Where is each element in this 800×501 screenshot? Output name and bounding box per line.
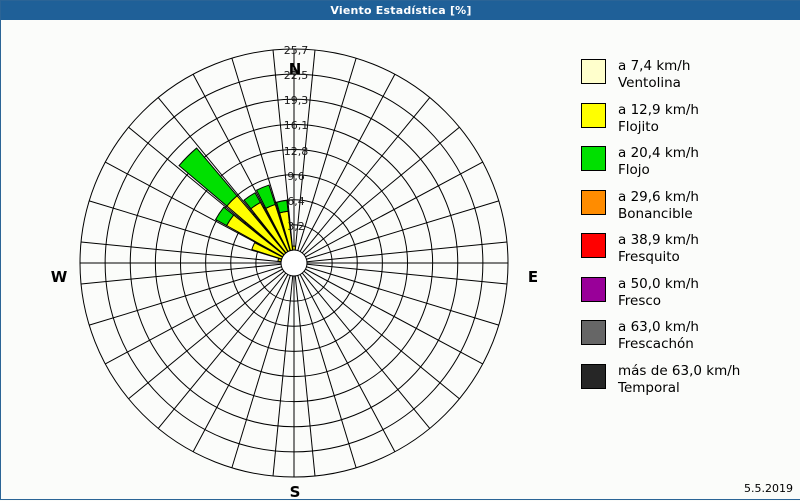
legend-label: a 50,0 km/hFresco bbox=[618, 276, 699, 311]
radial-tick-label: 12,8 bbox=[284, 145, 309, 158]
legend-speed: a 20,4 km/h bbox=[618, 145, 699, 162]
legend-name: Frescachón bbox=[618, 336, 699, 353]
grid-spoke bbox=[298, 275, 356, 467]
grid-spoke bbox=[89, 267, 281, 325]
legend-name: Fresquito bbox=[618, 249, 699, 266]
wind-rose-window: Viento Estadística [%] 3,26,49,612,816,1… bbox=[0, 0, 800, 500]
grid-spoke bbox=[158, 98, 286, 253]
legend-label: a 38,9 km/hFresquito bbox=[618, 232, 699, 267]
radial-tick-label: 19,3 bbox=[284, 94, 309, 107]
legend-item[interactable]: a 7,4 km/hVentolina bbox=[581, 58, 796, 93]
legend-speed: a 7,4 km/h bbox=[618, 58, 690, 75]
legend-speed: a 12,9 km/h bbox=[618, 102, 699, 119]
legend-name: Flojito bbox=[618, 119, 699, 136]
grid-spoke bbox=[304, 271, 459, 399]
radial-tick-label: 16,1 bbox=[284, 119, 309, 132]
legend-item[interactable]: a 29,6 km/hBonancible bbox=[581, 189, 796, 224]
legend-item[interactable]: más de 63,0 km/hTemporal bbox=[581, 363, 796, 398]
page-title: Viento Estadística [%] bbox=[330, 4, 471, 17]
legend-speed: a 63,0 km/h bbox=[618, 319, 699, 336]
legend-speed: a 29,6 km/h bbox=[618, 189, 699, 206]
legend-name: Fresco bbox=[618, 293, 699, 310]
compass-label-south: S bbox=[275, 483, 315, 501]
radial-tick-label: 9,6 bbox=[287, 170, 305, 183]
compass-label-west: W bbox=[39, 268, 79, 286]
radial-tick-label: 6,4 bbox=[287, 195, 305, 208]
legend-name: Bonancible bbox=[618, 206, 699, 223]
wind-rose-petal-segment bbox=[179, 148, 237, 206]
compass-label-north: N bbox=[275, 60, 315, 78]
legend-item[interactable]: a 12,9 km/hFlojito bbox=[581, 102, 796, 137]
grid-spoke bbox=[304, 127, 459, 255]
legend-label: más de 63,0 km/hTemporal bbox=[618, 363, 740, 398]
legend-label: a 63,0 km/hFrescachón bbox=[618, 319, 699, 354]
grid-spoke bbox=[232, 275, 290, 467]
chart-canvas: 3,26,49,612,816,119,322,525,7 N E S W a … bbox=[1, 20, 800, 499]
legend-swatch bbox=[581, 233, 606, 258]
legend-item[interactable]: a 20,4 km/hFlojo bbox=[581, 145, 796, 180]
legend-swatch bbox=[581, 59, 606, 84]
legend-swatch bbox=[581, 103, 606, 128]
legend-name: Ventolina bbox=[618, 75, 690, 92]
legend-item[interactable]: a 63,0 km/hFrescachón bbox=[581, 319, 796, 354]
legend: a 7,4 km/hVentolinaa 12,9 km/hFlojitoa 2… bbox=[581, 58, 796, 406]
legend-swatch bbox=[581, 364, 606, 389]
legend-swatch bbox=[581, 320, 606, 345]
legend-speed: a 50,0 km/h bbox=[618, 276, 699, 293]
legend-name: Temporal bbox=[618, 380, 740, 397]
grid-spoke bbox=[302, 98, 430, 253]
radial-tick-label: 25,7 bbox=[284, 44, 309, 57]
legend-name: Flojo bbox=[618, 162, 699, 179]
legend-item[interactable]: a 38,9 km/hFresquito bbox=[581, 232, 796, 267]
legend-label: a 20,4 km/hFlojo bbox=[618, 145, 699, 180]
grid-spoke bbox=[302, 273, 430, 428]
legend-swatch bbox=[581, 146, 606, 171]
grid-spoke bbox=[306, 201, 498, 259]
legend-label: a 12,9 km/hFlojito bbox=[618, 102, 699, 137]
compass-label-east: E bbox=[513, 268, 553, 286]
polar-grid bbox=[80, 49, 508, 477]
wind-rose-petal-segment bbox=[293, 246, 296, 250]
legend-swatch bbox=[581, 190, 606, 215]
legend-swatch bbox=[581, 277, 606, 302]
radial-tick-label: 3,2 bbox=[287, 220, 305, 233]
window-title-bar: Viento Estadística [%] bbox=[1, 1, 800, 20]
grid-spoke bbox=[158, 273, 286, 428]
wind-rose-plot: 3,26,49,612,816,119,322,525,7 bbox=[1, 20, 561, 490]
grid-spoke bbox=[129, 271, 284, 399]
legend-speed: más de 63,0 km/h bbox=[618, 363, 740, 380]
legend-label: a 7,4 km/hVentolina bbox=[618, 58, 690, 93]
legend-item[interactable]: a 50,0 km/hFresco bbox=[581, 276, 796, 311]
date-stamp: 5.5.2019 bbox=[744, 482, 793, 495]
legend-label: a 29,6 km/hBonancible bbox=[618, 189, 699, 224]
legend-speed: a 38,9 km/h bbox=[618, 232, 699, 249]
grid-spoke bbox=[306, 267, 498, 325]
